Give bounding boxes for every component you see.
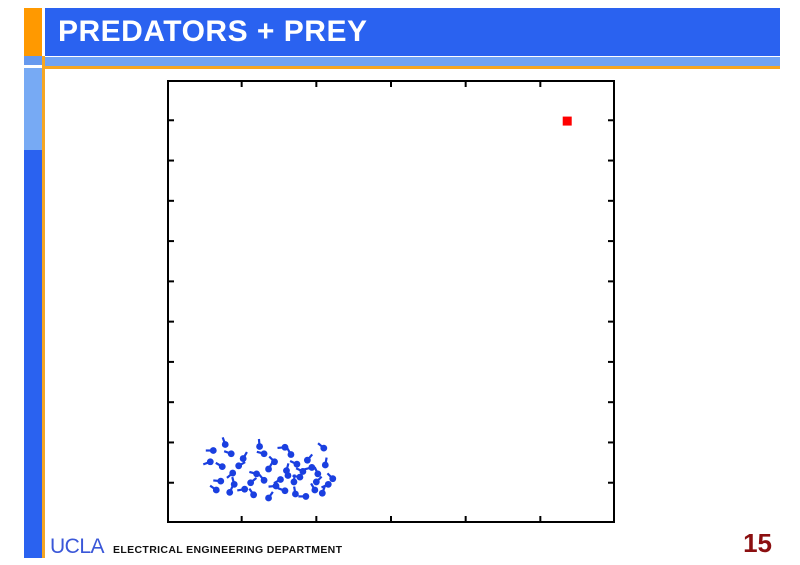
ucla-logo: UCLA <box>50 536 104 558</box>
department-label: ELECTRICAL ENGINEERING DEPARTMENT <box>113 539 342 561</box>
sidebar-orange-block <box>24 8 42 56</box>
title-orange-stripe <box>45 66 780 69</box>
plot-canvas <box>167 80 615 523</box>
sidebar-orange-rule <box>42 56 45 558</box>
title-lightblue-stripe <box>45 57 780 66</box>
page-title: PREDATORS + PREY <box>58 14 367 50</box>
sidebar-lightblue-band <box>24 68 42 150</box>
sidebar-darkblue-band <box>24 150 42 558</box>
scatter-plot <box>167 80 615 523</box>
footer: UCLA ELECTRICAL ENGINEERING DEPARTMENT <box>50 536 342 558</box>
page-number: 15 <box>743 528 772 558</box>
sidebar-lightblue-top <box>24 56 42 65</box>
slide: PREDATORS + PREY UCLA ELECTRICAL ENGINEE… <box>0 0 800 565</box>
